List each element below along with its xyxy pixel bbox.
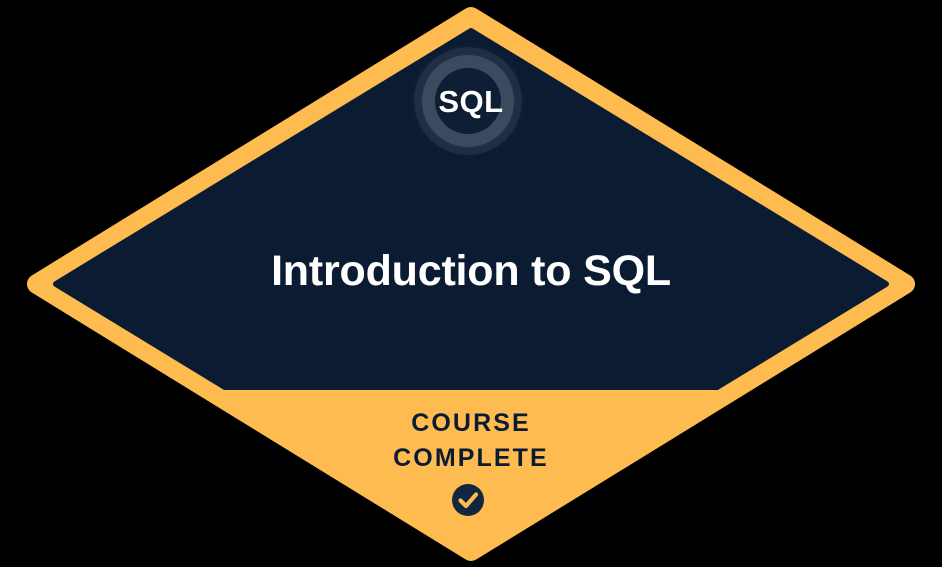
diamond-badge-graphic [0,0,942,567]
check-circle-icon [452,484,484,516]
sql-ring-icon [408,41,528,161]
course-complete-badge: SQL Introduction to SQL COURSE COMPLETE [0,0,942,567]
